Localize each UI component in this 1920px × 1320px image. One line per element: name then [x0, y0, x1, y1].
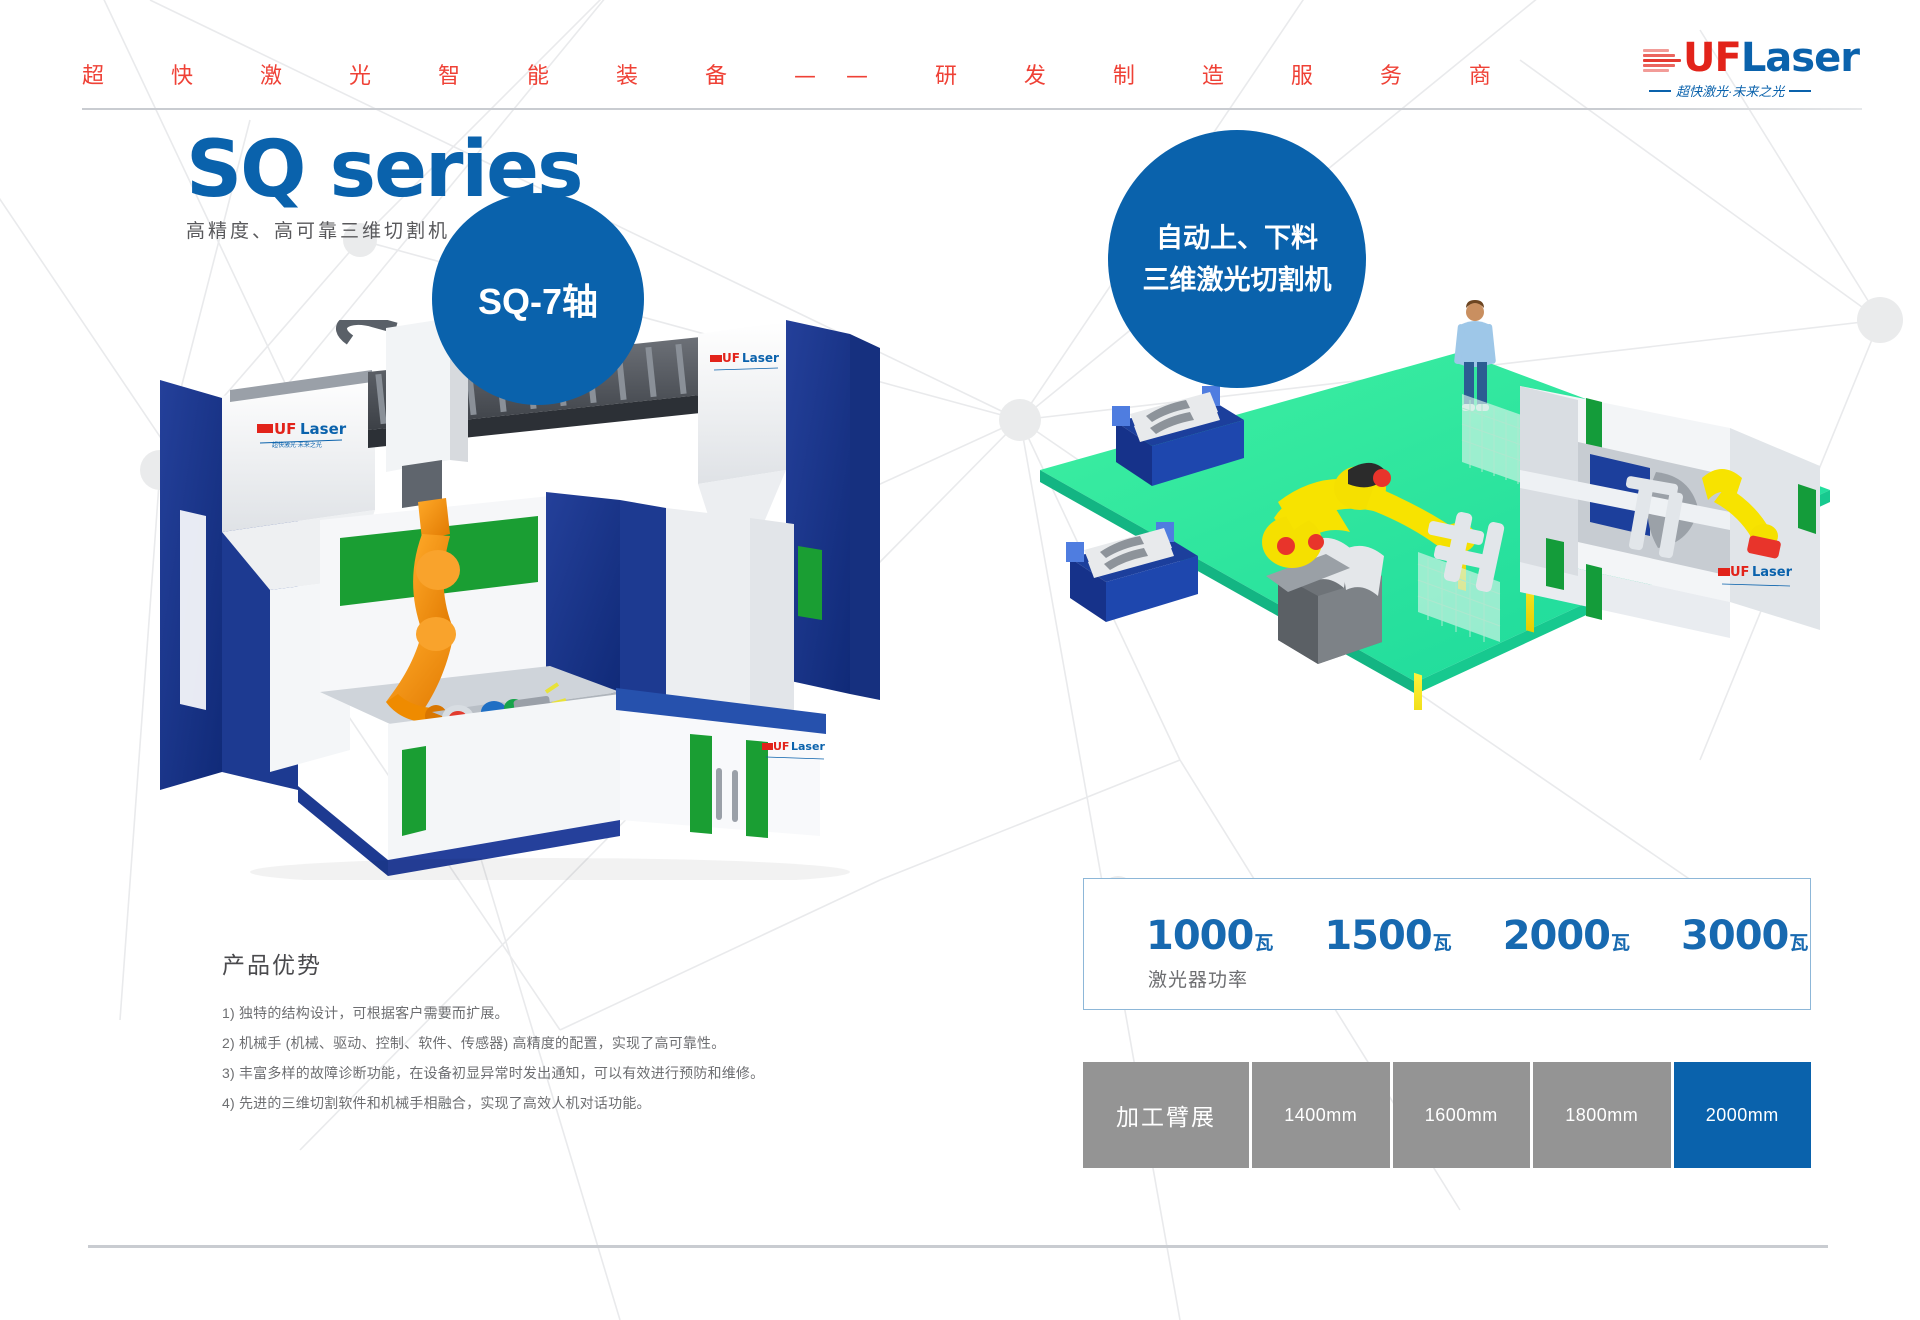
laser-power-panel: 1000瓦 1500瓦 2000瓦 3000瓦 激光器功率 [1083, 878, 1811, 1010]
logo-text-uf: UF [1683, 38, 1741, 78]
svg-text:Laser: Laser [742, 351, 779, 365]
power-value: 1500 [1324, 913, 1431, 959]
power-value: 1000 [1146, 913, 1253, 959]
badge-auto-loading: 自动上、下料 三维激光切割机 [1108, 130, 1366, 388]
badge-auto-loading-line2: 三维激光切割机 [1143, 265, 1332, 295]
power-unit: 瓦 [1789, 932, 1807, 954]
advantage-item: 3) 丰富多样的故障诊断功能，在设备初显异常时发出通知，可以有效进行预防和维修。 [222, 1058, 842, 1088]
svg-text:UF: UF [773, 740, 789, 753]
speed-lines-icon [1643, 45, 1681, 72]
product-advantages-block: 产品优势 1) 独特的结构设计，可根据客户需要而扩展。 2) 机械手 (机械、驱… [222, 946, 842, 1118]
svg-text:UF: UF [722, 351, 740, 365]
power-unit: 瓦 [1433, 932, 1451, 954]
logo-text-laser: Laser [1741, 38, 1859, 78]
power-option: 3000瓦 [1681, 913, 1807, 959]
power-option: 1000瓦 [1146, 913, 1272, 959]
power-unit: 瓦 [1254, 932, 1272, 954]
svg-text:Laser: Laser [791, 740, 825, 753]
power-unit: 瓦 [1611, 932, 1629, 954]
tagline-dash-right-icon [1789, 90, 1811, 92]
power-option: 1500瓦 [1324, 913, 1450, 959]
power-value: 3000 [1681, 913, 1788, 959]
logo-tagline-row: 超快激光·未来之光 [1643, 81, 1858, 100]
laser-power-label: 激光器功率 [1084, 959, 1810, 992]
header-divider [82, 108, 1862, 110]
product-advantages-title: 产品优势 [222, 946, 842, 980]
sq7-machine-illustration: UF Laser 超快激光·未来之光 [150, 320, 890, 880]
power-option: 2000瓦 [1503, 913, 1629, 959]
svg-text:超快激光·未来之光: 超快激光·未来之光 [272, 441, 322, 449]
footer-divider [88, 1245, 1828, 1248]
badge-sq7-axis-label: SQ-7轴 [478, 273, 598, 325]
badge-auto-loading-label: 自动上、下料 三维激光切割机 [1143, 217, 1332, 301]
logo-tagline: 超快激光·未来之光 [1676, 81, 1784, 100]
table-cell-armspan[interactable]: 1600mm [1393, 1062, 1531, 1168]
table-cell-armspan-selected[interactable]: 2000mm [1674, 1062, 1812, 1168]
svg-text:UF: UF [274, 420, 296, 438]
uflaser-logo: UF Laser 超快激光·未来之光 [1643, 38, 1858, 100]
table-cell-armspan[interactable]: 1400mm [1252, 1062, 1390, 1168]
svg-text:Laser: Laser [1752, 565, 1793, 580]
advantage-item: 1) 独特的结构设计，可根据客户需要而扩展。 [222, 998, 842, 1028]
laser-power-values: 1000瓦 1500瓦 2000瓦 3000瓦 [1084, 879, 1810, 959]
advantage-item: 2) 机械手 (机械、驱动、控制、软件、传感器) 高精度的配置，实现了高可靠性。 [222, 1028, 842, 1058]
badge-auto-loading-line1: 自动上、下料 [1156, 223, 1318, 253]
svg-text:Laser: Laser [300, 420, 347, 438]
table-cell-armspan[interactable]: 1800mm [1533, 1062, 1671, 1168]
arm-span-table: 加工臂展 1400mm 1600mm 1800mm 2000mm [1083, 1062, 1811, 1168]
svg-text:UF: UF [1730, 565, 1749, 580]
advantage-item: 4) 先进的三维切割软件和机械手相融合，实现了高效人机对话功能。 [222, 1088, 842, 1118]
tagline-dash-left-icon [1649, 90, 1671, 92]
header-slogan: 超 快 激 光 智 能 装 备 —— 研 发 制 造 服 务 商 [82, 58, 1521, 90]
power-value: 2000 [1503, 913, 1610, 959]
table-row-header: 加工臂展 [1083, 1062, 1249, 1168]
badge-sq7-axis: SQ-7轴 [432, 193, 644, 405]
header-bar: 超 快 激 光 智 能 装 备 —— 研 发 制 造 服 务 商 [82, 48, 1462, 100]
